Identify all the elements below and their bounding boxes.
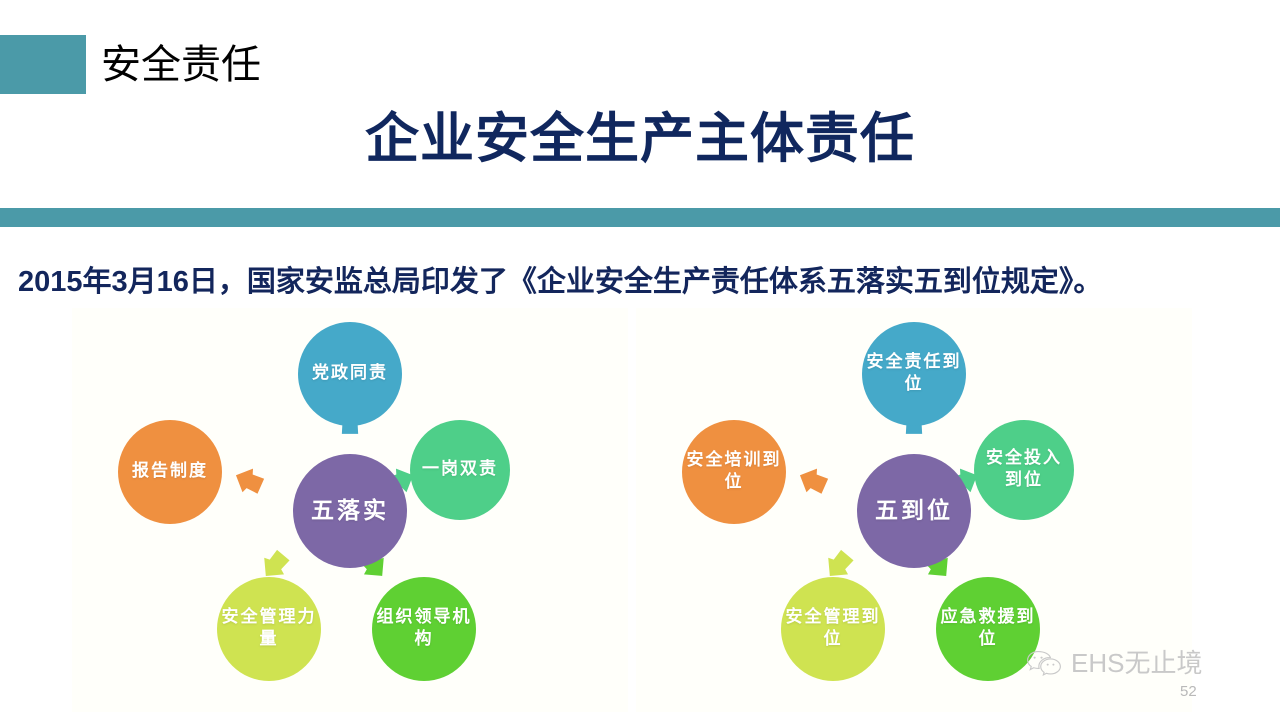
node-bottom-left[interactable]: 安全管理到位 (781, 577, 885, 681)
header-kicker: 安全责任 (101, 40, 261, 90)
node-bottom-right[interactable]: 应急救援到位 (936, 577, 1040, 681)
node-label: 报告制度 (132, 461, 208, 483)
header-accent-block (0, 35, 86, 94)
page-number: 52 (1180, 683, 1197, 701)
slide-canvas: 安全责任 企业安全生产主体责任 2015年3月16日，国家安监总局印发了《企业安… (0, 0, 1280, 720)
node-center-label: 五到位 (875, 496, 953, 525)
node-label: 安全培训到位 (686, 450, 782, 494)
arrow-left-icon (791, 459, 836, 504)
node-label: 安全管理到位 (785, 607, 881, 651)
body-paragraph: 2015年3月16日，国家安监总局印发了《企业安全生产责任体系五落实五到位规定》… (18, 263, 1268, 301)
node-label: 安全管理力量 (221, 607, 317, 651)
node-bottom-left[interactable]: 安全管理力量 (217, 577, 321, 681)
wechat-icon (1026, 648, 1062, 678)
node-top[interactable]: 安全责任到位 (862, 322, 966, 426)
header-divider-bar (0, 208, 1280, 227)
node-label: 一岗双责 (422, 459, 498, 481)
node-left[interactable]: 报告制度 (118, 420, 222, 524)
node-bottom-right[interactable]: 组织领导机构 (372, 577, 476, 681)
node-right[interactable]: 安全投入到位 (974, 420, 1074, 520)
page-title: 企业安全生产主体责任 (0, 104, 1280, 174)
node-left[interactable]: 安全培训到位 (682, 420, 786, 524)
watermark-text: EHS无止境 (1071, 648, 1202, 678)
node-center[interactable]: 五落实 (293, 454, 407, 568)
node-label: 安全责任到位 (866, 352, 962, 396)
node-label: 安全投入到位 (978, 448, 1070, 492)
node-right[interactable]: 一岗双责 (410, 420, 510, 520)
arrow-left-icon (227, 459, 272, 504)
node-label: 党政同责 (312, 363, 388, 385)
node-center[interactable]: 五到位 (857, 454, 971, 568)
watermark: EHS无止境 (1026, 648, 1202, 678)
node-top[interactable]: 党政同责 (298, 322, 402, 426)
node-label: 应急救援到位 (940, 607, 1036, 651)
diagram-wu-luo-shi: 党政同责 一岗双责 组织领导机构 安全管理力量 报告制度 五落实 (72, 308, 628, 712)
node-center-label: 五落实 (311, 496, 389, 525)
node-label: 组织领导机构 (376, 607, 472, 651)
